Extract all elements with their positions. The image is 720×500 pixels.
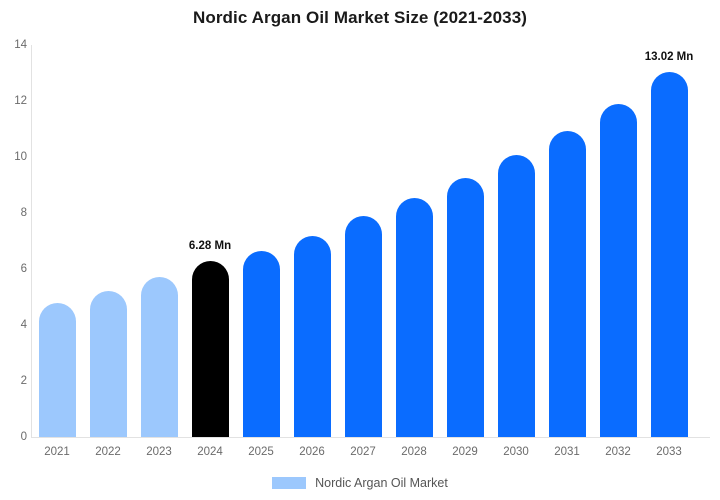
legend-label-nordic-argan-oil-market: Nordic Argan Oil Market [315, 476, 448, 490]
x-axis-tick-label: 2032 [593, 446, 643, 458]
bar-column[interactable] [447, 45, 484, 437]
bar-2033[interactable] [651, 72, 688, 437]
x-axis-tick-label: 2023 [134, 446, 184, 458]
bar-column[interactable] [396, 45, 433, 437]
bar-column[interactable] [651, 45, 688, 437]
x-axis-tick-label: 2031 [542, 446, 592, 458]
bar-2024[interactable] [192, 261, 229, 437]
plot-area [31, 45, 710, 437]
bar-2026[interactable] [294, 236, 331, 437]
y-axis-tick-label: 0 [3, 431, 27, 443]
x-axis-line [31, 437, 710, 438]
bar-column[interactable] [549, 45, 586, 437]
bar-column[interactable] [498, 45, 535, 437]
bar-2030[interactable] [498, 155, 535, 437]
bar-column[interactable] [294, 45, 331, 437]
bar-2028[interactable] [396, 198, 433, 437]
legend-swatch-nordic-argan-oil-market [272, 477, 306, 489]
y-axis-tick-label: 2 [3, 375, 27, 387]
chart-title: Nordic Argan Oil Market Size (2021-2033) [0, 8, 720, 28]
y-axis-tick-label: 6 [3, 263, 27, 275]
x-axis-tick-label: 2026 [287, 446, 337, 458]
y-axis-tick-label: 12 [3, 95, 27, 107]
y-axis-tick-label: 14 [3, 39, 27, 51]
y-axis-tick-label: 4 [3, 319, 27, 331]
x-axis-tick-label: 2025 [236, 446, 286, 458]
x-axis-tick-label: 2030 [491, 446, 541, 458]
x-axis-tick-label: 2024 [185, 446, 235, 458]
bar-2032[interactable] [600, 104, 637, 437]
bar-value-label-2024: 6.28 Mn [165, 240, 255, 252]
x-axis-tick-label: 2033 [644, 446, 694, 458]
bar-column[interactable] [90, 45, 127, 437]
bar-2027[interactable] [345, 216, 382, 437]
bar-value-label-2033: 13.02 Mn [624, 51, 714, 63]
x-axis-tick-label: 2022 [83, 446, 133, 458]
y-axis-tick-label: 8 [3, 207, 27, 219]
chart-legend: Nordic Argan Oil Market [0, 476, 720, 490]
x-axis-tick-label: 2029 [440, 446, 490, 458]
bar-column[interactable] [345, 45, 382, 437]
bar-2031[interactable] [549, 131, 586, 437]
y-axis-tick-label: 10 [3, 151, 27, 163]
bar-2025[interactable] [243, 251, 280, 437]
bar-column[interactable] [600, 45, 637, 437]
bar-column[interactable] [39, 45, 76, 437]
x-axis-tick-label: 2021 [32, 446, 82, 458]
bar-chart: Nordic Argan Oil Market Size (2021-2033)… [0, 0, 720, 500]
bar-2022[interactable] [90, 291, 127, 437]
x-axis-tick-label: 2027 [338, 446, 388, 458]
bar-2023[interactable] [141, 277, 178, 437]
x-axis-tick-label: 2028 [389, 446, 439, 458]
bar-2021[interactable] [39, 303, 76, 437]
y-axis-tick-labels: 02468101214 [0, 0, 27, 500]
bar-2029[interactable] [447, 178, 484, 437]
